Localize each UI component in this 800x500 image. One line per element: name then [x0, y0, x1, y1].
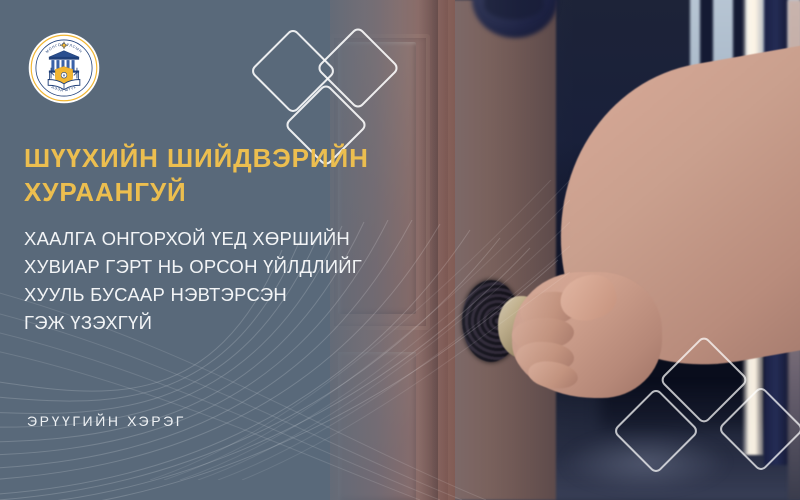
supreme-court-emblem-icon: МОНГОЛ УЛСЫН ДЭЭД ШҮҮХ	[28, 32, 100, 104]
slide-canvas: МОНГОЛ УЛСЫН ДЭЭД ШҮҮХ	[0, 0, 800, 500]
subtitle-block: ХААЛГА ОНГОРХОЙ ҮЕД ХӨРШИЙН ХУВИАР ГЭРТ …	[24, 225, 444, 337]
subtitle-line-4: ГЭЖ ҮЗЭХГҮЙ	[24, 309, 444, 337]
title-line-1: ШҮҮХИЙН ШИЙДВЭРИЙН	[24, 141, 424, 175]
page-title: ШҮҮХИЙН ШИЙДВЭРИЙН ХУРААНГУЙ	[24, 141, 424, 210]
title-line-2: ХУРААНГУЙ	[24, 175, 424, 209]
subtitle-line-2: ХУВИАР ГЭРТ НЬ ОРСОН ҮЙЛДЛИЙГ	[24, 253, 444, 281]
category-label: ЭРҮҮГИЙН ХЭРЭГ	[27, 413, 186, 429]
subtitle-line-3: ХУУЛЬ БУСААР НЭВТЭРСЭН	[24, 281, 444, 309]
subtitle-line-1: ХААЛГА ОНГОРХОЙ ҮЕД ХӨРШИЙН	[24, 225, 444, 253]
